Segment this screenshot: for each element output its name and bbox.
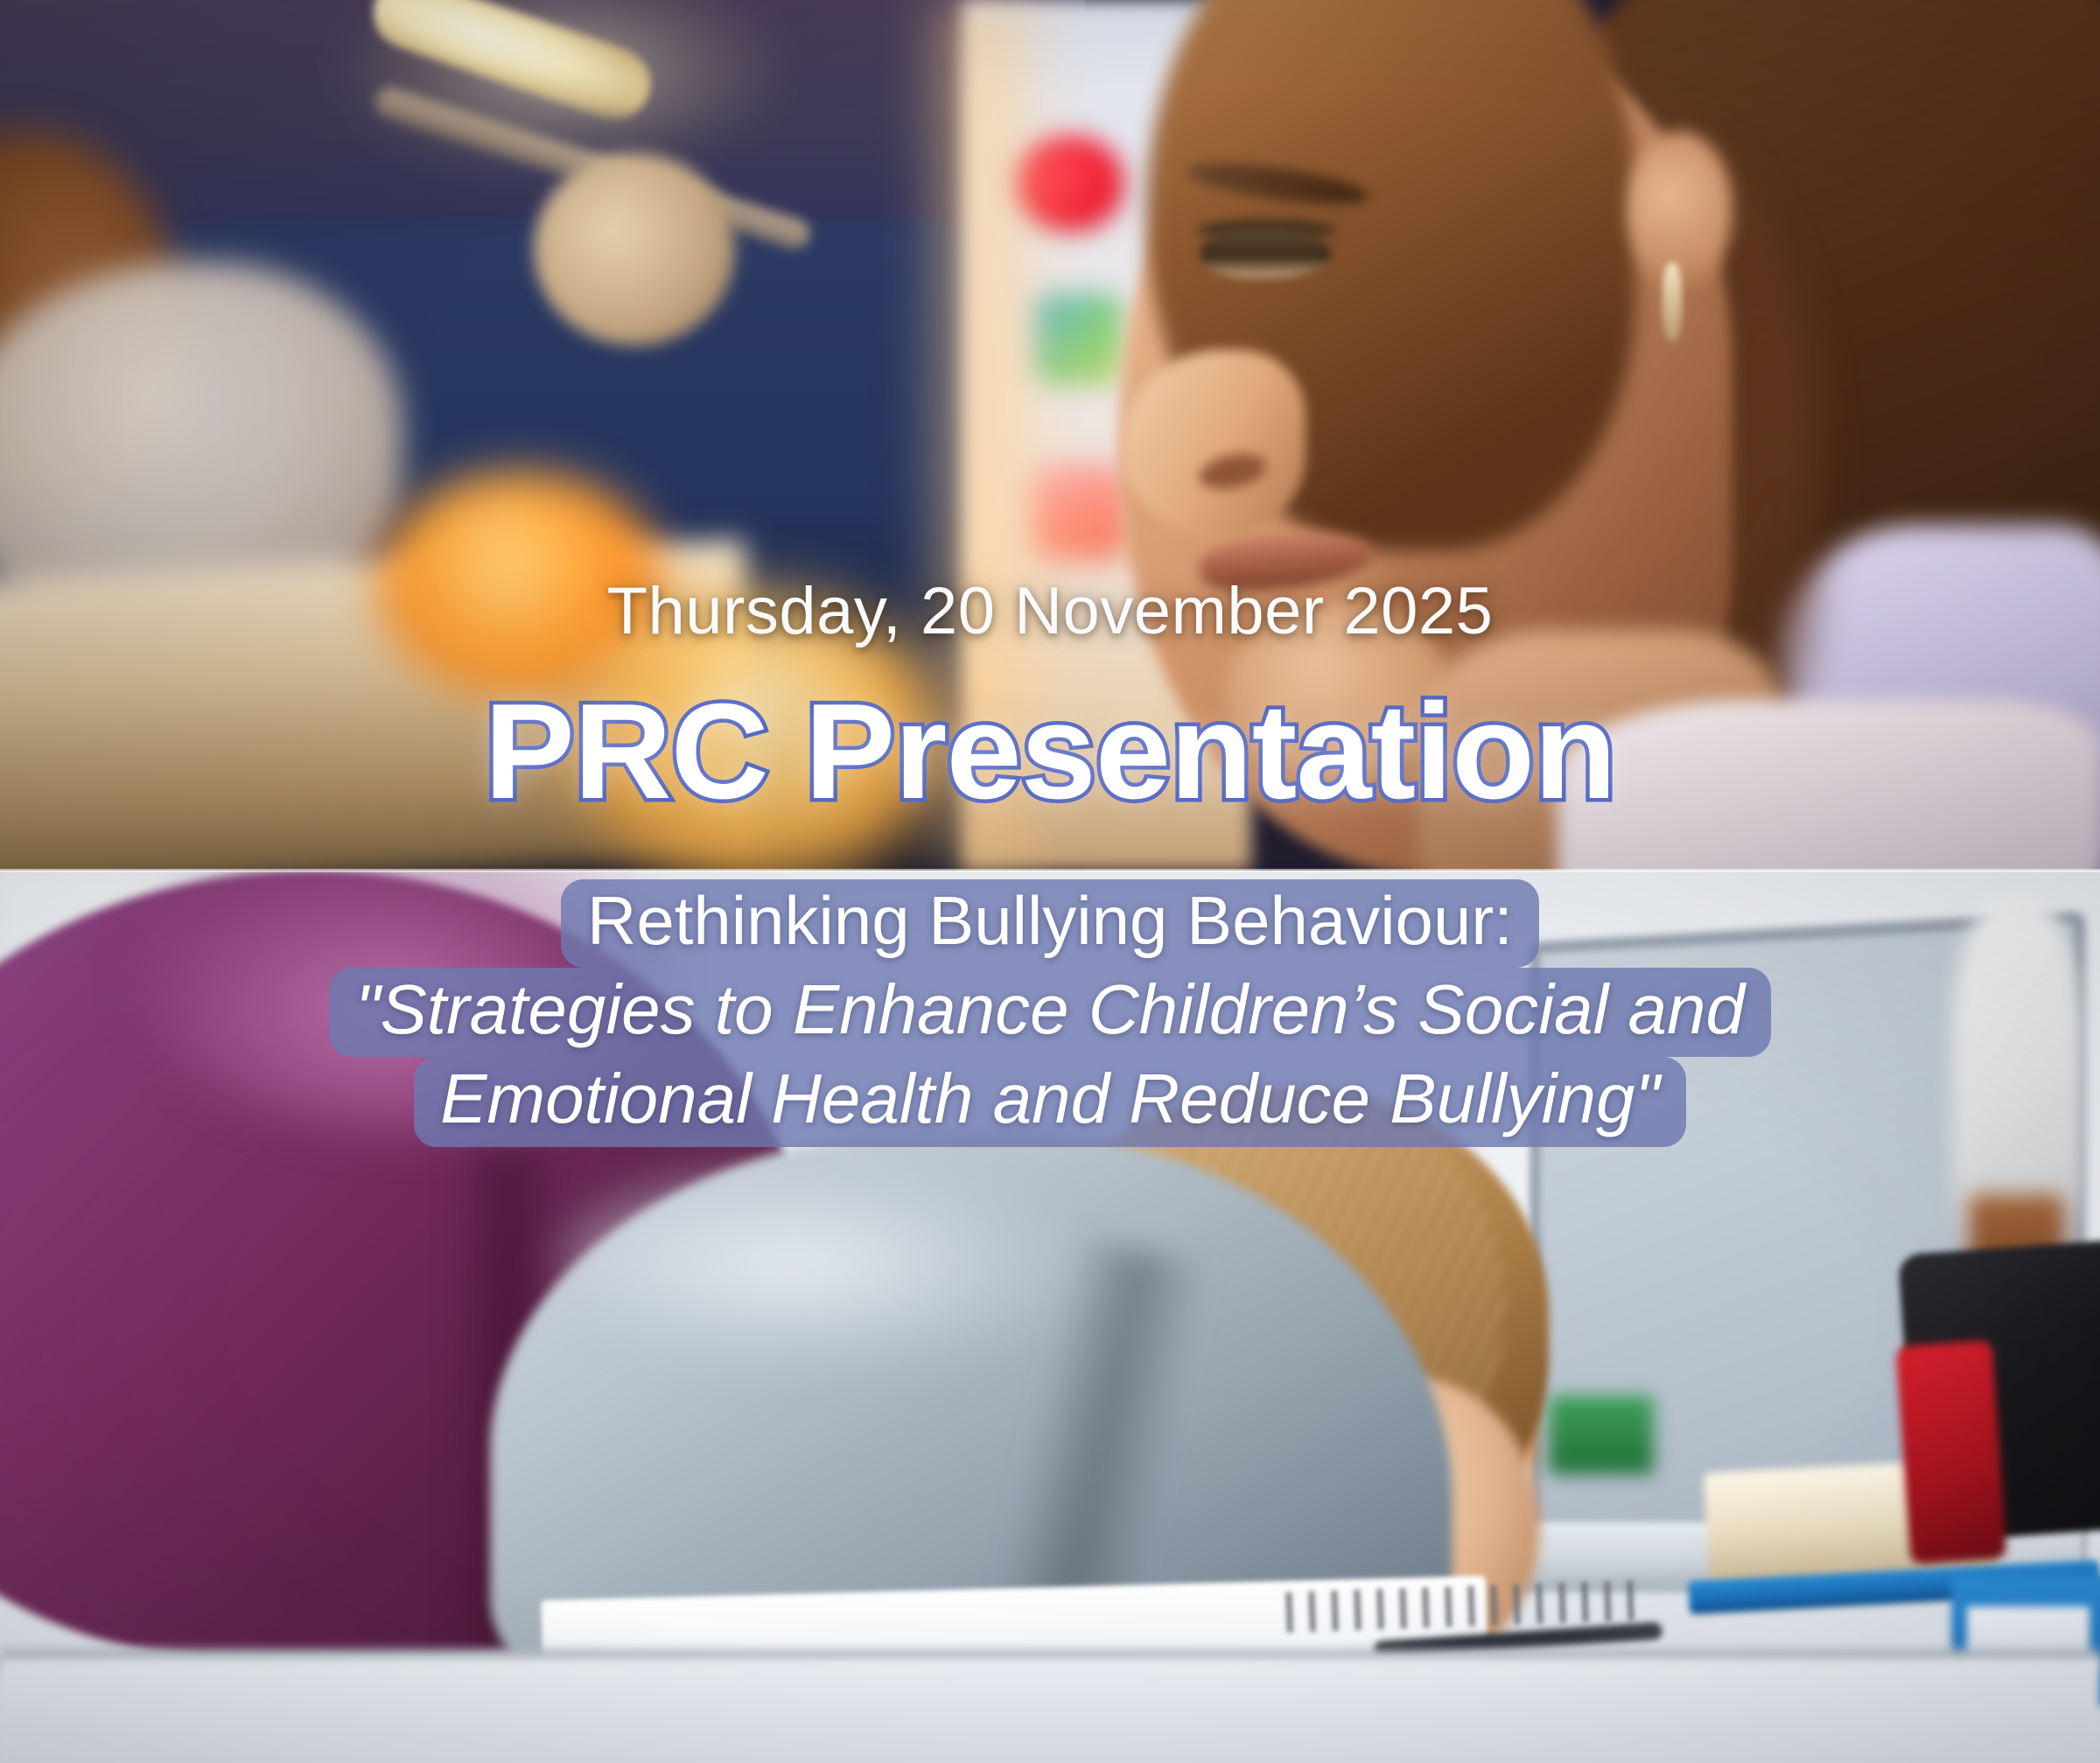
subtitle-block: Rethinking Bullying Behaviour: "Strategi… xyxy=(0,879,2100,1147)
page-title: PRC Presentation xyxy=(0,674,2100,829)
subtitle-row-1: Rethinking Bullying Behaviour: xyxy=(0,879,2100,968)
presentation-slide: Thursday, 20 November 2025 PRC Presentat… xyxy=(0,0,2100,1763)
subtitle-line-1: Rethinking Bullying Behaviour: xyxy=(561,879,1539,968)
photo-seam-divider xyxy=(0,869,2100,872)
subtitle-row-3: Emotional Health and Reduce Bullying" xyxy=(0,1066,2100,1147)
subtitle-line-2: "Strategies to Enhance Children’s Social… xyxy=(329,968,1771,1058)
subtitle-line-3: Emotional Health and Reduce Bullying" xyxy=(414,1057,1686,1147)
event-date: Thursday, 20 November 2025 xyxy=(0,573,2100,649)
subtitle-row-2: "Strategies to Enhance Children’s Social… xyxy=(0,976,2100,1058)
